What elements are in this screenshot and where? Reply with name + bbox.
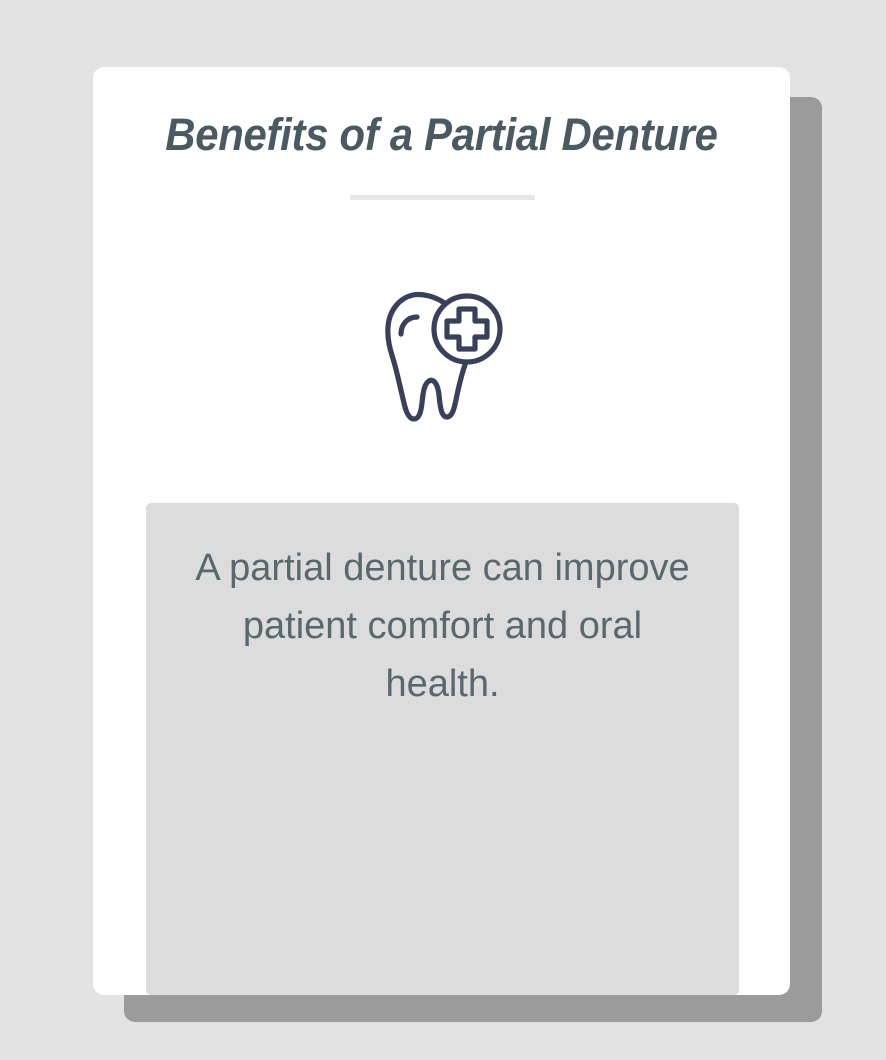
- title-divider: [350, 195, 535, 200]
- tooth-with-medical-cross-glyph: [377, 289, 507, 429]
- tooth-with-medical-cross-icon: [93, 279, 790, 439]
- slide-canvas: Benefits of a Partial Denture A partial …: [0, 0, 886, 1060]
- page-title: Benefits of a Partial Denture: [117, 107, 765, 163]
- body-text: A partial denture can improve patient co…: [186, 539, 699, 713]
- content-card: Benefits of a Partial Denture A partial …: [93, 67, 790, 995]
- cross-circle-outline: [434, 296, 500, 362]
- body-text-panel: A partial denture can improve patient co…: [146, 503, 739, 995]
- tooth-highlight-arc: [401, 317, 417, 334]
- medical-cross-path: [447, 309, 487, 349]
